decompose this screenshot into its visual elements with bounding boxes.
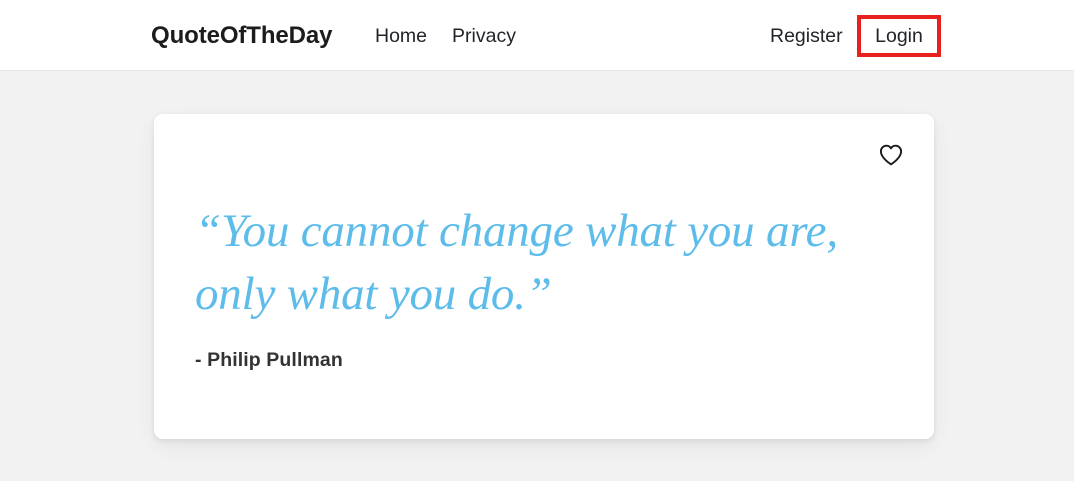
- login-highlight-box: Login: [857, 15, 941, 57]
- brand-logo[interactable]: QuoteOfTheDay: [151, 20, 332, 52]
- quote-author: - Philip Pullman: [195, 347, 343, 373]
- favorite-button[interactable]: [874, 138, 908, 172]
- quote-text: “You cannot change what you are, only wh…: [195, 200, 895, 326]
- quote-card: “You cannot change what you are, only wh…: [154, 114, 934, 439]
- nav-link-home[interactable]: Home: [375, 23, 427, 49]
- heart-outline-icon: [879, 144, 903, 166]
- nav-link-register[interactable]: Register: [770, 23, 843, 49]
- nav-link-login[interactable]: Login: [875, 23, 923, 49]
- navbar: QuoteOfTheDay Home Privacy Register Logi…: [0, 0, 1074, 71]
- nav-links-left: Home Privacy: [375, 23, 516, 49]
- nav-link-privacy[interactable]: Privacy: [452, 23, 516, 49]
